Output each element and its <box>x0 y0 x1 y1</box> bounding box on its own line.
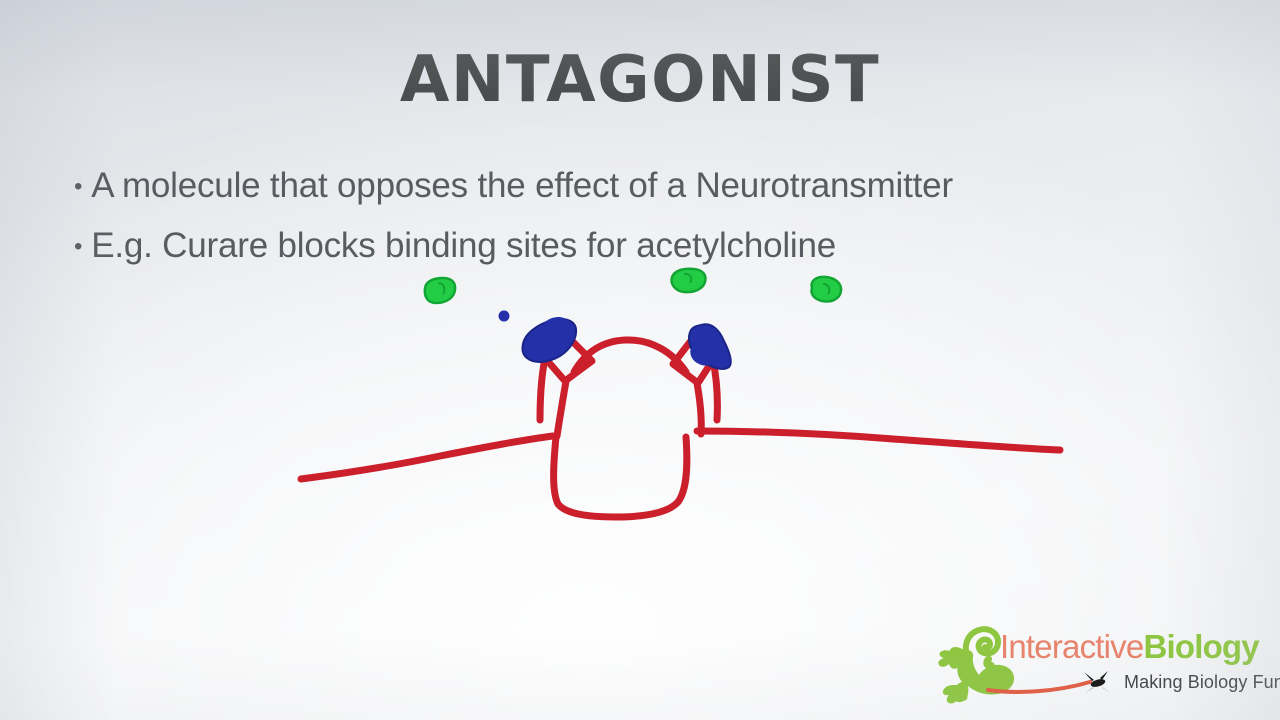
terminal-top-arch <box>574 340 686 372</box>
blocker-molecule-right-lobe <box>690 344 714 366</box>
logo-tagline: Making Biology Fun <box>1124 672 1280 693</box>
blocker-molecules <box>499 311 731 369</box>
receptor-stalk-right <box>713 360 717 420</box>
logo-word-biology: Biology <box>1143 628 1258 665</box>
blocker-molecule-left <box>522 319 576 362</box>
list-item: • A molecule that opposes the effect of … <box>74 165 1214 207</box>
receptor-neck-left <box>557 381 566 436</box>
neurotransmitter-molecule-notch <box>823 284 829 294</box>
membrane-line-right <box>697 431 1060 450</box>
bullet-text: A molecule that opposes the effect of a … <box>91 165 953 207</box>
blocker-molecule-right <box>689 324 731 369</box>
brand-logo: InteractiveBiology Making Biology Fun <box>928 624 1264 716</box>
blocker-molecule-left-lobe <box>544 317 569 336</box>
presynaptic-terminal-outline <box>554 437 687 517</box>
bullet-marker-icon: • <box>74 235 82 259</box>
receptor-neck-right <box>697 383 701 434</box>
membrane-line-left <box>301 436 553 479</box>
receptor-site-left <box>545 340 592 381</box>
receptor-site-right <box>673 342 713 383</box>
membrane-and-terminal <box>301 340 1060 517</box>
tongue-icon <box>988 682 1090 692</box>
logo-wordmark: InteractiveBiology <box>1000 630 1259 663</box>
slide-canvas: ANTAGONIST • A molecule that opposes the… <box>0 0 1280 720</box>
receptor-stalk-left <box>540 358 545 420</box>
page-title: ANTAGONIST <box>0 48 1280 112</box>
bullet-list: • A molecule that opposes the effect of … <box>74 165 1214 285</box>
logo-word-interactive: Interactive <box>1000 628 1143 665</box>
bullet-marker-icon: • <box>74 175 82 199</box>
blocker-particle-free <box>499 311 510 322</box>
bullet-text: E.g. Curare blocks binding sites for ace… <box>91 225 836 267</box>
list-item: • E.g. Curare blocks binding sites for a… <box>74 225 1214 267</box>
